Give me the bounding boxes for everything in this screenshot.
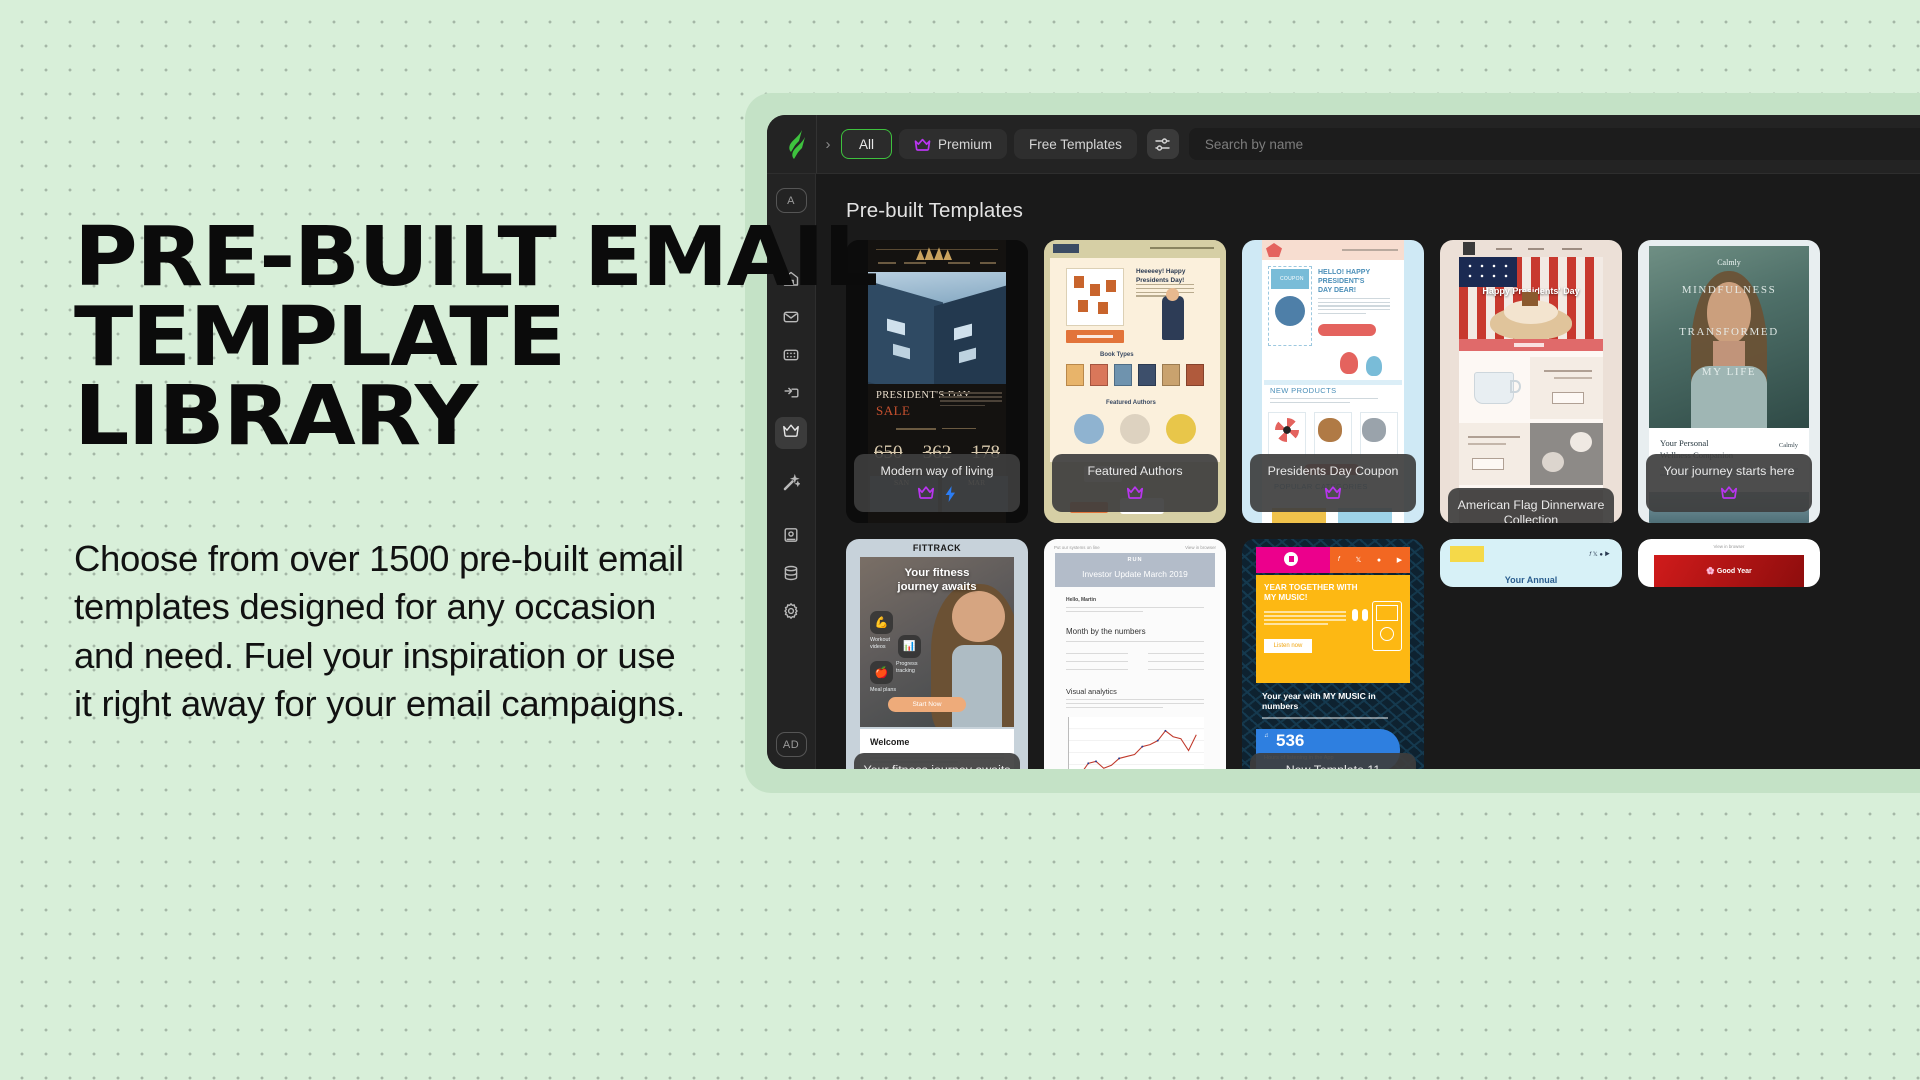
headline-line-2: TEMPLATE — [74, 298, 816, 378]
filter-chip-free-label: Free Templates — [1029, 137, 1122, 152]
template-title: Featured Authors — [1087, 464, 1182, 479]
template-label: American Flag Dinnerware Collection — [1448, 488, 1614, 523]
template-thumbnail: 𝑓𝕏●▶ YEAR TOGETHER WITH MY MUSIC! Listen… — [1242, 539, 1424, 769]
stripo-logo-icon[interactable] — [781, 127, 815, 161]
app-topbar: › All Premium Free Templates Search by n… — [767, 115, 1920, 174]
avatar-bottom[interactable]: AD — [776, 732, 807, 757]
template-card[interactable]: 𝑓 𝕏 ● ▶ Your Annual — [1440, 539, 1622, 587]
template-thumbnail: Put our systems on line View in browser … — [1044, 539, 1226, 769]
template-title: Presidents Day Coupon — [1268, 464, 1399, 479]
crown-icon — [1720, 485, 1738, 503]
filter-chip-all-label: All — [859, 137, 874, 152]
sidebar-item-ai-assistant[interactable] — [775, 469, 807, 501]
template-label: Your fitness journey awaits — [854, 753, 1020, 769]
page-title: Pre-built Templates — [846, 199, 1920, 223]
template-label: Presidents Day Coupon — [1250, 454, 1416, 512]
sidebar-item-storage[interactable] — [775, 559, 807, 591]
templates-grid: PRESIDENT'S DAY SALE 650 — [846, 240, 1920, 769]
template-title: Modern way of living — [881, 464, 994, 479]
headline-line-1: PRE-BUILT EMAIL — [74, 218, 816, 298]
app-body: A — [767, 174, 1920, 769]
app-window: › All Premium Free Templates Search by n… — [767, 115, 1920, 769]
sliders-icon[interactable] — [1147, 129, 1179, 159]
bolt-icon — [944, 486, 957, 502]
crown-icon — [1324, 485, 1342, 503]
template-title: Your journey starts here — [1663, 464, 1794, 479]
template-thumbnail: FITTRACK Your fitnessjourney awaits 💪 Wo… — [846, 539, 1028, 769]
template-label: Modern way of living — [854, 454, 1020, 512]
page-headline: PRE-BUILT EMAIL TEMPLATE LIBRARY — [74, 218, 816, 457]
template-thumbnail: Happy Presidents' Day — [1440, 240, 1622, 523]
filter-chip-premium[interactable]: Premium — [899, 129, 1007, 159]
image-card-icon — [782, 526, 800, 549]
search-placeholder: Search by name — [1205, 137, 1303, 152]
template-card[interactable]: 𝑓𝕏●▶ YEAR TOGETHER WITH MY MUSIC! Listen… — [1242, 539, 1424, 769]
template-badges — [917, 485, 957, 503]
template-title: Your fitness journey awaits — [864, 763, 1011, 769]
template-card[interactable]: Heeeeey! HappyPresidents Day! Book Types — [1044, 240, 1226, 523]
template-thumbnail: View in browser 🌸 Good Year — [1638, 539, 1820, 587]
sidebar-item-settings[interactable] — [775, 597, 807, 629]
chevron-right-icon[interactable]: › — [815, 136, 841, 153]
template-card[interactable]: COUPON HELLO! HAPPYPRESIDENT'SDAY DEAR! — [1242, 240, 1424, 523]
topbar-divider — [816, 115, 817, 173]
database-icon — [782, 564, 800, 587]
template-title: American Flag Dinnerware Collection — [1456, 498, 1606, 523]
avatar-top-label: A — [787, 195, 795, 207]
filter-chip-premium-label: Premium — [938, 137, 992, 152]
template-label: New Template 11 — [1250, 753, 1416, 769]
gear-icon — [782, 602, 800, 625]
page-subcopy: Choose from over 1500 pre-built email te… — [74, 535, 694, 729]
crown-icon — [1126, 485, 1144, 503]
filter-chip-free-templates[interactable]: Free Templates — [1014, 129, 1137, 159]
template-card[interactable]: Calmly MINDFULNESS TRANSFORMED MY LIFE Y… — [1638, 240, 1820, 523]
templates-main-panel: Pre-built Templates — [816, 174, 1920, 769]
template-badges — [1324, 485, 1342, 503]
template-label: Featured Authors — [1052, 454, 1218, 512]
template-badges — [1126, 485, 1144, 503]
crown-icon — [914, 138, 931, 151]
crown-icon — [917, 485, 935, 503]
template-label: Your journey starts here — [1646, 454, 1812, 512]
template-thumbnail: 𝑓 𝕏 ● ▶ Your Annual — [1440, 539, 1622, 587]
template-card[interactable]: Put our systems on line View in browser … — [1044, 539, 1226, 769]
template-card[interactable]: Happy Presidents' Day — [1440, 240, 1622, 523]
template-badges — [1720, 485, 1738, 503]
template-card[interactable]: FITTRACK Your fitnessjourney awaits 💪 Wo… — [846, 539, 1028, 769]
filter-chip-all[interactable]: All — [841, 129, 892, 159]
template-card[interactable]: View in browser 🌸 Good Year — [1638, 539, 1820, 587]
avatar-bottom-label: AD — [783, 739, 799, 751]
magic-wand-icon — [782, 474, 800, 497]
headline-line-3: LIBRARY — [74, 377, 816, 457]
marketing-copy: PRE-BUILT EMAIL TEMPLATE LIBRARY Choose … — [74, 218, 774, 729]
search-input[interactable]: Search by name — [1189, 128, 1920, 160]
template-title: New Template 11 — [1286, 763, 1381, 769]
sidebar-item-media[interactable] — [775, 521, 807, 553]
